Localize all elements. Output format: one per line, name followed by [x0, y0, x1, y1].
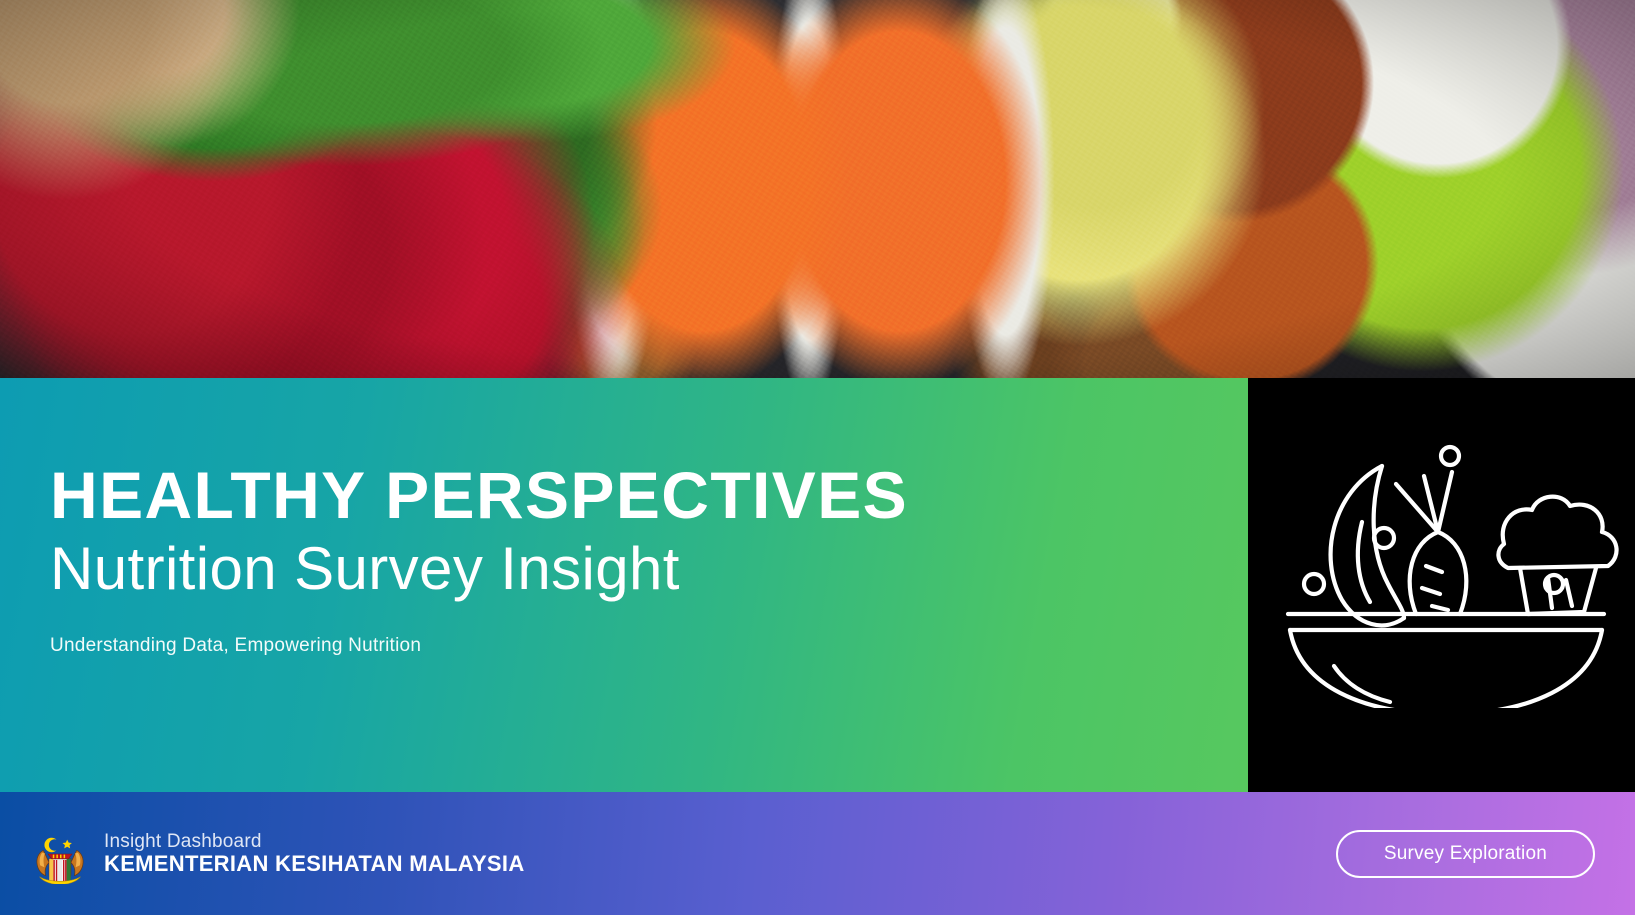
- title-block: HEALTHY PERSPECTIVES Nutrition Survey In…: [50, 462, 908, 657]
- hero-band: HEALTHY PERSPECTIVES Nutrition Survey In…: [0, 378, 1635, 792]
- brand-title: KEMENTERIAN KESIHATAN MALAYSIA: [104, 852, 525, 877]
- hero-title-panel: HEALTHY PERSPECTIVES Nutrition Survey In…: [0, 378, 1248, 792]
- page-subtitle: Nutrition Survey Insight: [50, 534, 908, 605]
- survey-exploration-button[interactable]: Survey Exploration: [1336, 830, 1595, 878]
- photo-vignette: [0, 0, 1635, 378]
- hero-photo: [0, 0, 1635, 378]
- page-title: HEALTHY PERSPECTIVES: [50, 462, 908, 528]
- footer-bar: Insight Dashboard KEMENTERIAN KESIHATAN …: [0, 792, 1635, 915]
- brand-subtitle: Insight Dashboard: [104, 831, 525, 852]
- malaysia-coat-of-arms-icon: [30, 824, 90, 884]
- brand-text: Insight Dashboard KEMENTERIAN KESIHATAN …: [104, 831, 525, 877]
- page-tagline: Understanding Data, Empowering Nutrition: [50, 635, 908, 657]
- cover-page: HEALTHY PERSPECTIVES Nutrition Survey In…: [0, 0, 1635, 915]
- brand-lockup: Insight Dashboard KEMENTERIAN KESIHATAN …: [0, 824, 525, 884]
- hero-illustration-panel: [1248, 378, 1635, 792]
- fruit-bowl-icon: [1266, 418, 1626, 708]
